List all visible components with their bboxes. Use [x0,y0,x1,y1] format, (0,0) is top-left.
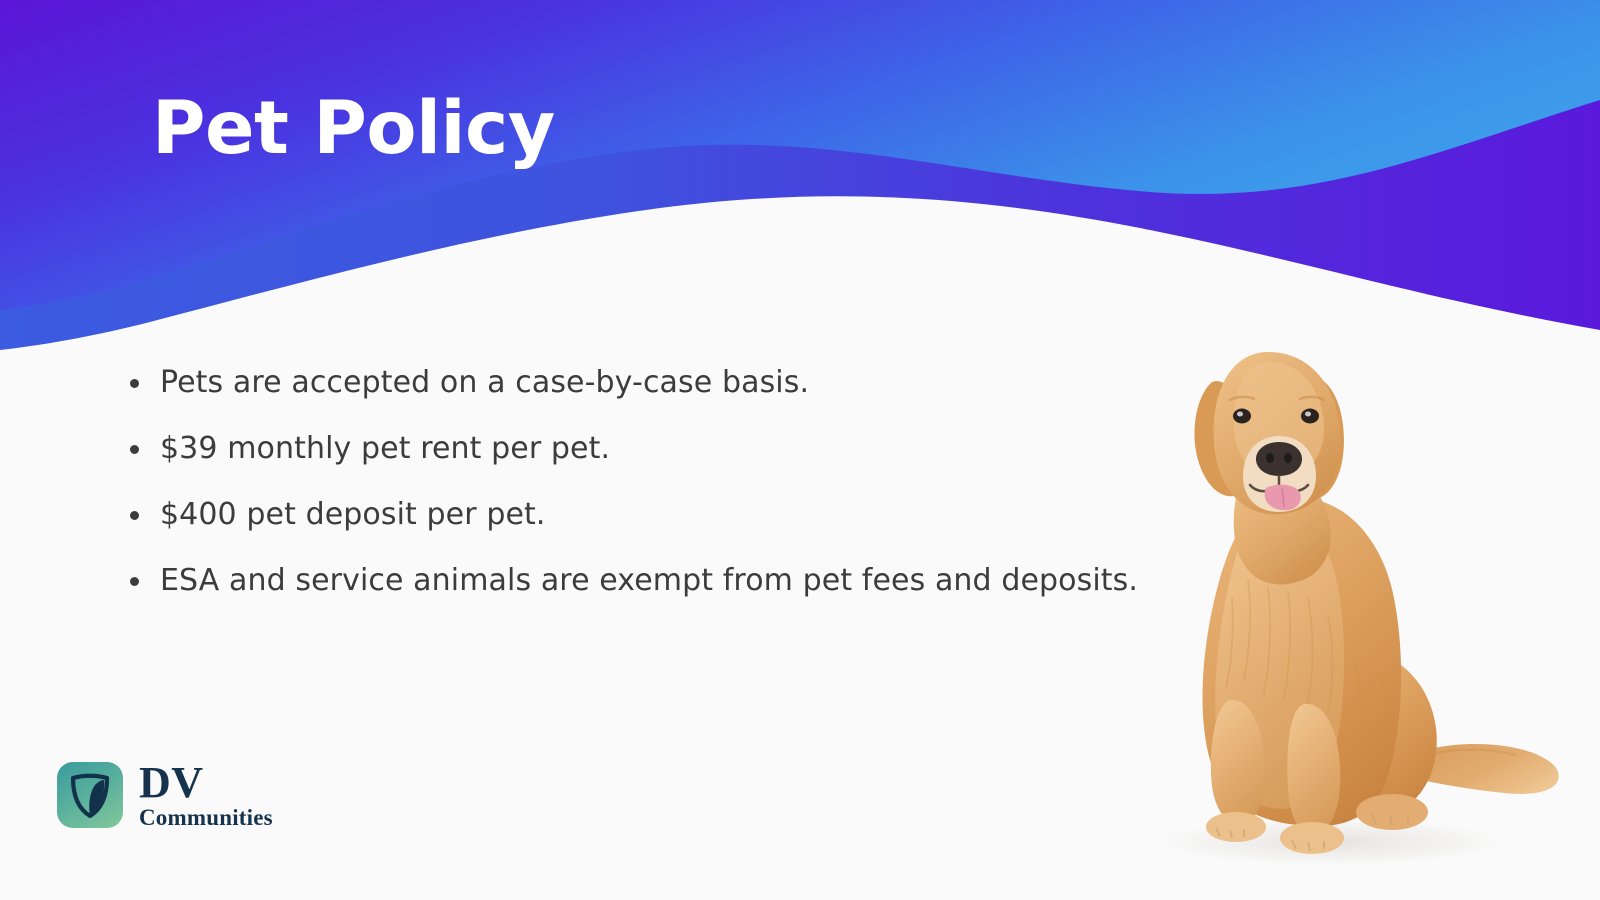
bullet-dot-icon [130,511,139,520]
list-item: ESA and service animals are exempt from … [120,554,1250,608]
logo-tile [57,762,123,828]
list-item: $400 pet deposit per pet. [120,488,1250,542]
dv-communities-logo: DV Communities [57,762,273,829]
list-item: Pets are accepted on a case-by-case basi… [120,356,1250,410]
list-item-text: ESA and service animals are exempt from … [160,563,1138,598]
shield-leaf-icon [69,772,111,818]
bullet-dot-icon [130,379,139,388]
list-item-text: $39 monthly pet rent per pet. [160,431,610,466]
logo-primary-text: DV [139,762,204,804]
logo-wordmark: DV Communities [139,762,273,829]
list-item-text: $400 pet deposit per pet. [160,497,546,532]
logo-secondary-text: Communities [139,806,273,829]
page-title: Pet Policy [152,92,555,165]
slide: Pet Policy [0,0,1600,900]
pet-policy-bullet-list: Pets are accepted on a case-by-case basi… [120,356,1250,608]
bullet-dot-icon [130,445,139,454]
bullet-dot-icon [130,577,139,586]
list-item: $39 monthly pet rent per pet. [120,422,1250,476]
list-item-text: Pets are accepted on a case-by-case basi… [160,365,809,400]
